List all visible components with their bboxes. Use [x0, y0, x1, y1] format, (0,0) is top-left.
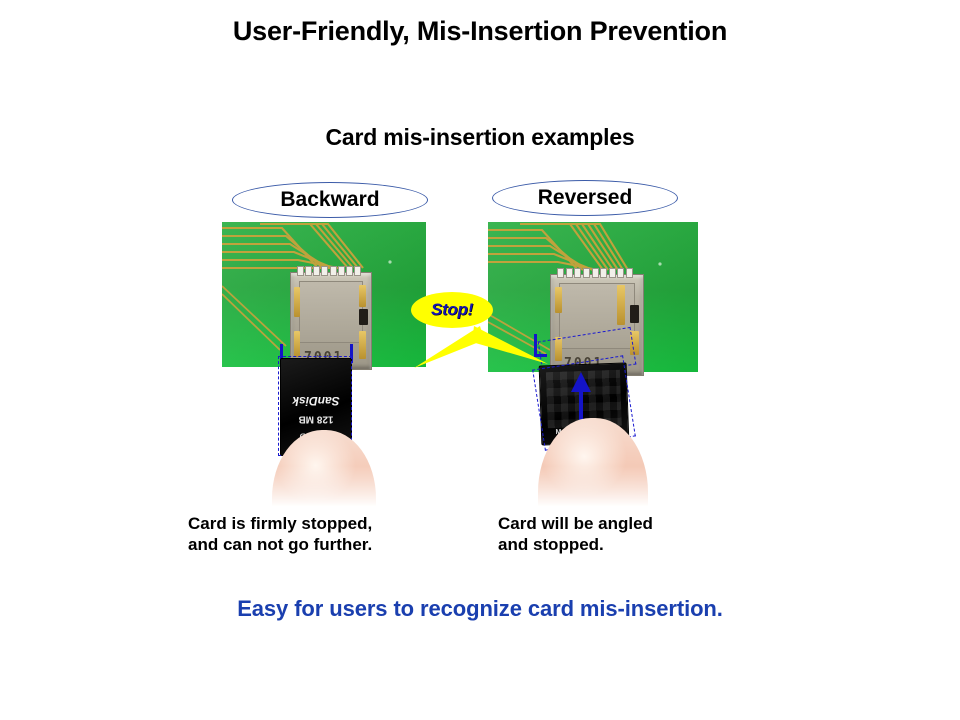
- connector-pads-right: [557, 268, 633, 276]
- badge-reversed: Reversed: [492, 180, 678, 216]
- stop-callout-bubble: Stop!: [411, 292, 493, 328]
- badge-backward-label: Backward: [280, 188, 379, 212]
- stop-callout: Stop!: [411, 292, 493, 328]
- photo-fade-right: [488, 466, 698, 512]
- photo-fade-left: [222, 466, 426, 512]
- stop-callout-label: Stop!: [431, 300, 473, 320]
- connector-switch-right: [630, 305, 639, 323]
- badge-reversed-label: Reversed: [538, 186, 633, 210]
- caption-backward: Card is firmly stopped, and can not go f…: [188, 514, 372, 555]
- connector-gold-tab-right-c2: [617, 285, 625, 325]
- footer-summary: Easy for users to recognize card mis-ins…: [0, 596, 960, 622]
- section-heading: Card mis-insertion examples: [0, 124, 960, 151]
- connector-gold-tab-left-a: [294, 287, 300, 317]
- slide-canvas: User-Friendly, Mis-Insertion Prevention …: [0, 0, 960, 720]
- page-title: User-Friendly, Mis-Insertion Prevention: [0, 16, 960, 47]
- caption-reversed: Card will be angled and stopped.: [498, 514, 653, 555]
- connector-pads-left: [297, 266, 361, 274]
- badge-backward: Backward: [232, 182, 428, 218]
